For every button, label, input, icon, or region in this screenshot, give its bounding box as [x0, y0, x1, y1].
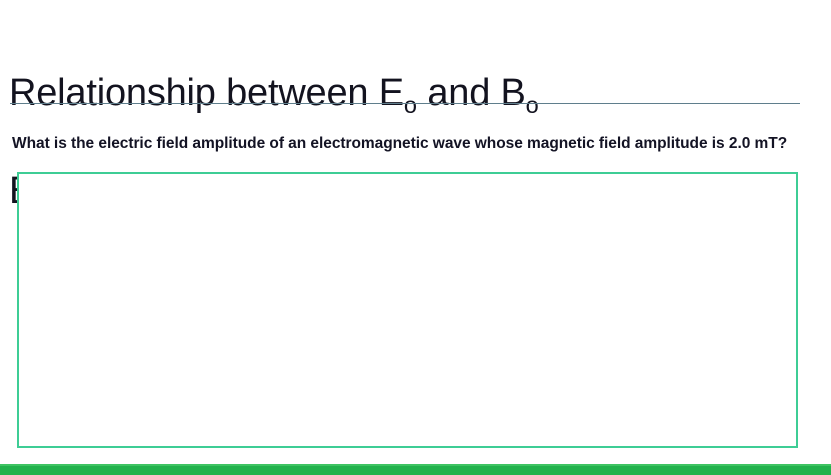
- slide-title-line-1: Relationship between Eo and Bo: [9, 70, 809, 121]
- answer-box[interactable]: [17, 172, 798, 448]
- title-divider-rule: [10, 103, 800, 104]
- slide-title-text-a: Relationship between E: [9, 72, 404, 114]
- subscript-o-1: o: [404, 92, 417, 118]
- question-text: What is the electric field amplitude of …: [12, 133, 804, 154]
- footer-accent-highlight: [0, 464, 831, 466]
- slide: Relationship between Eo and Bo Example P…: [0, 0, 831, 475]
- footer-accent-bar: [0, 464, 831, 475]
- slide-title-text-b: and B: [417, 72, 526, 114]
- subscript-o-2: o: [526, 92, 539, 118]
